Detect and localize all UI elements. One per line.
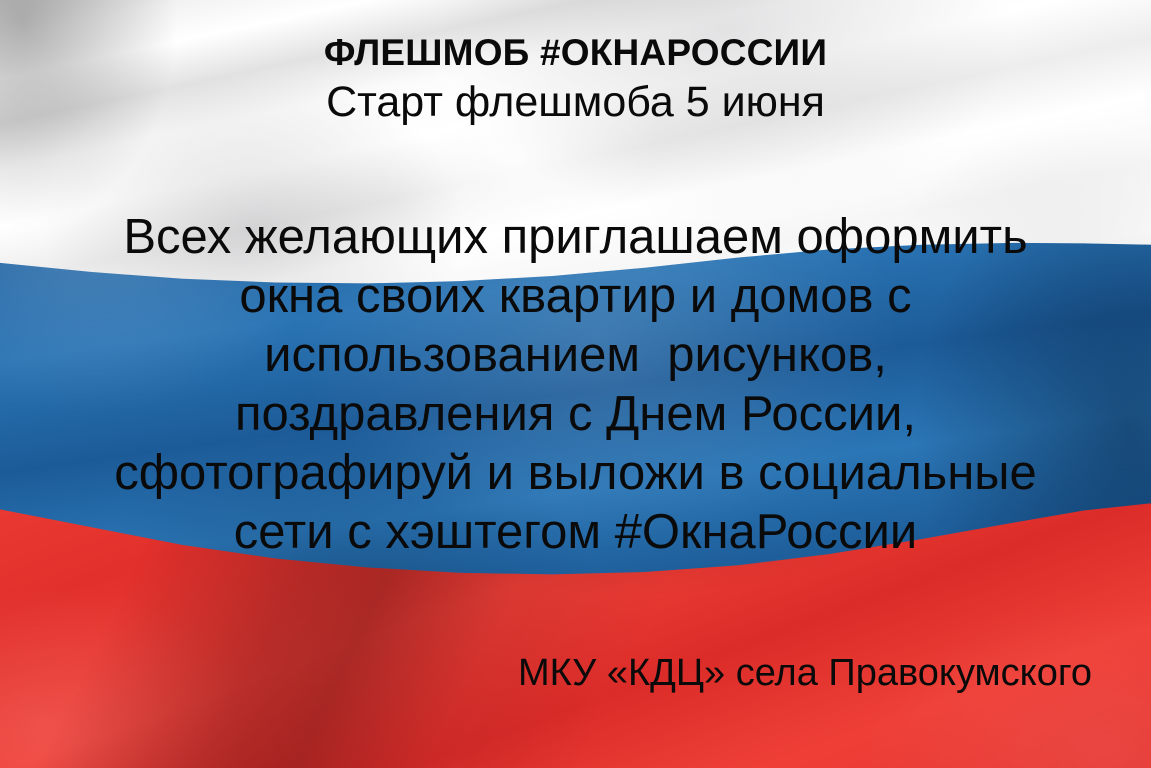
body-line-5: сфотографируй и выложи в социальные [0,444,1151,503]
poster-body: Всех желающих приглашаем оформить окна с… [0,208,1151,562]
poster-heading: ФЛЕШМОБ #ОКНАРОССИИ [0,30,1151,76]
title-block: ФЛЕШМОБ #ОКНАРОССИИ Старт флешмоба 5 июн… [0,30,1151,128]
poster-text-layer: ФЛЕШМОБ #ОКНАРОССИИ Старт флешмоба 5 июн… [0,0,1151,768]
body-line-6: сети с хэштегом #ОкнаРоссии [0,503,1151,562]
body-line-4: поздравления с Днем России, [0,385,1151,444]
poster-canvas: ФЛЕШМОБ #ОКНАРОССИИ Старт флешмоба 5 июн… [0,0,1151,768]
footer-block: МКУ «КДЦ» села Правокумского [0,650,1092,696]
body-line-3: использованием рисунков, [0,326,1151,385]
organization-credit: МКУ «КДЦ» села Правокумского [0,650,1092,696]
body-line-2: окна своих квартир и домов с [0,267,1151,326]
body-line-1: Всех желающих приглашаем оформить [0,208,1151,267]
poster-subheading: Старт флешмоба 5 июня [0,76,1151,128]
